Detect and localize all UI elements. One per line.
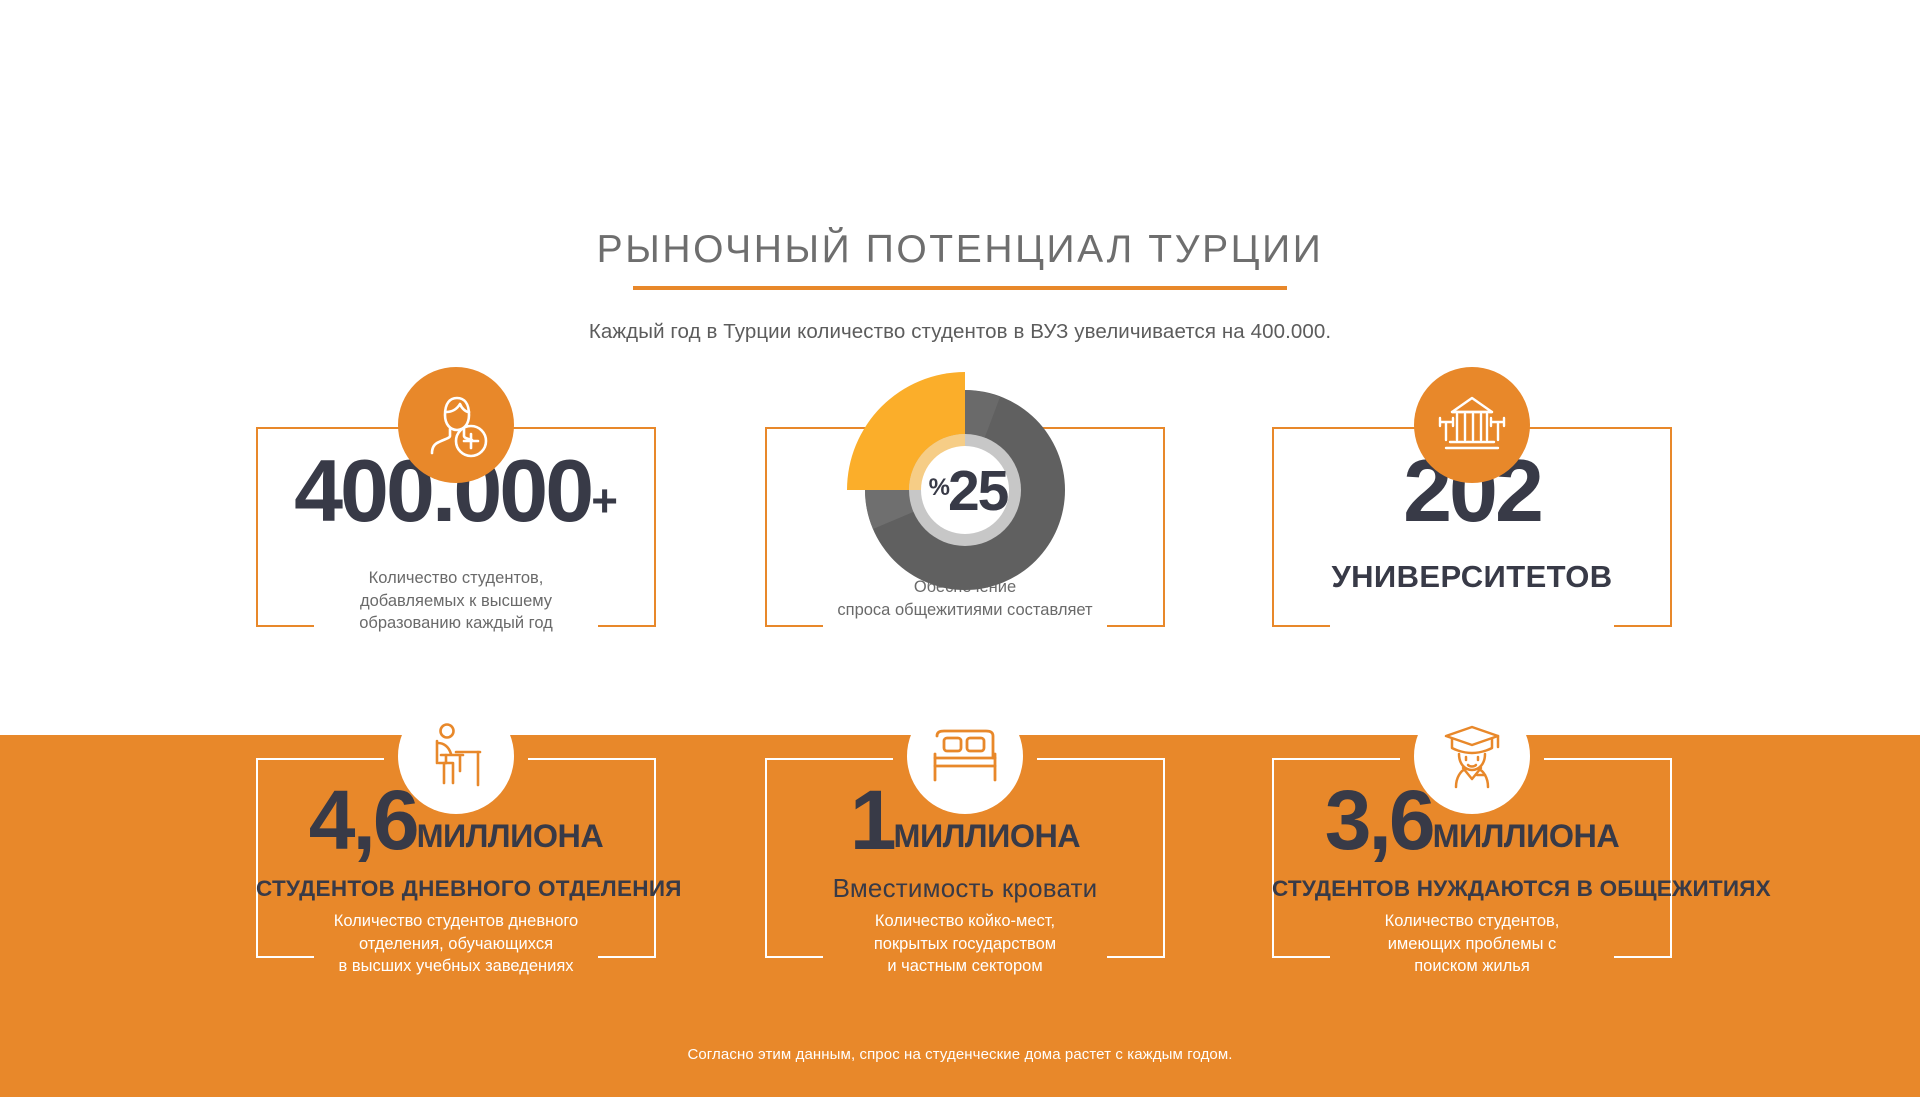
card-students-needing-dorms: 3,6МИЛЛИОНА СТУДЕНТОВ НУЖДАЮТСЯ В ОБЩЕЖИ… bbox=[1272, 758, 1672, 958]
caption-line: покрытых государством bbox=[765, 933, 1165, 956]
stat-suffix: + bbox=[591, 475, 618, 526]
caption-line: Количество студентов, bbox=[256, 567, 656, 590]
card-caption: Количество студентов, имеющих проблемы с… bbox=[1272, 910, 1672, 978]
caption-line: Количество студентов, bbox=[1272, 910, 1672, 933]
card-caption: Количество студентов, добавляемых к высш… bbox=[256, 567, 656, 635]
card-frame-bottom-gap bbox=[823, 624, 1107, 632]
caption-line: отделения, обучающихся bbox=[256, 933, 656, 956]
bed-icon bbox=[929, 728, 1001, 784]
stat-unit: МИЛЛИОНА bbox=[417, 818, 604, 854]
stat-number: 4,6 bbox=[309, 773, 417, 867]
caption-line: образованию каждый год bbox=[256, 612, 656, 635]
woman-add-icon bbox=[419, 388, 493, 462]
card-students-added: 400.000+ Количество студентов, добавляем… bbox=[256, 427, 656, 627]
university-building-icon bbox=[1434, 390, 1510, 460]
student-at-desk-icon bbox=[422, 721, 490, 791]
caption-line: в высших учебных заведениях bbox=[256, 955, 656, 978]
card-universities: 202 УНИВЕРСИТЕТОВ bbox=[1272, 427, 1672, 627]
caption-line: поиском жилья bbox=[1272, 955, 1672, 978]
card-headline-bed-capacity: Вместимость кровати bbox=[765, 873, 1165, 904]
infographic-root: РЫНОЧНЫЙ ПОТЕНЦИАЛ ТУРЦИИ Каждый год в Т… bbox=[0, 0, 1920, 1097]
caption-line: добавляемых к высшему bbox=[256, 590, 656, 613]
caption-line: Количество койко-мест, bbox=[765, 910, 1165, 933]
card-headline-fulltime-students: СТУДЕНТОВ ДНЕВНОГО ОТДЕЛЕНИЯ bbox=[256, 876, 656, 902]
graduate-student-icon-badge bbox=[1414, 698, 1530, 814]
card-dorm-supply: %25 Обеспечение спроса общежитиями соста… bbox=[765, 427, 1165, 627]
footer-note: Согласно этим данным, спрос на студенчес… bbox=[0, 1046, 1920, 1063]
card-caption: Количество койко-мест, покрытых государс… bbox=[765, 910, 1165, 978]
university-building-icon-badge bbox=[1414, 367, 1530, 483]
donut-chart-svg: %25 bbox=[842, 367, 1088, 613]
student-at-desk-icon-badge bbox=[398, 698, 514, 814]
card-bed-capacity: 1МИЛЛИОНА Вместимость кровати Количество… bbox=[765, 758, 1165, 958]
card-headline-students-needing-dorms: СТУДЕНТОВ НУЖДАЮТСЯ В ОБЩЕЖИТИЯХ bbox=[1272, 876, 1672, 902]
card-headline-universities: УНИВЕРСИТЕТОВ bbox=[1272, 559, 1672, 595]
stat-unit: МИЛЛИОНА bbox=[894, 818, 1081, 854]
title-underline-rule bbox=[633, 286, 1287, 290]
caption-line: и частным сектором bbox=[765, 955, 1165, 978]
bed-icon-badge bbox=[907, 698, 1023, 814]
stat-number: 1 bbox=[850, 773, 894, 867]
header: РЫНОЧНЫЙ ПОТЕНЦИАЛ ТУРЦИИ Каждый год в Т… bbox=[0, 228, 1920, 344]
stat-number: 3,6 bbox=[1325, 773, 1433, 867]
graduate-student-icon bbox=[1436, 723, 1508, 789]
caption-line: имеющих проблемы с bbox=[1272, 933, 1672, 956]
caption-line: Количество студентов дневного bbox=[256, 910, 656, 933]
page-subtitle: Каждый год в Турции количество студентов… bbox=[0, 320, 1920, 344]
card-frame-bottom-gap bbox=[1330, 624, 1614, 632]
card-fulltime-students: 4,6МИЛЛИОНА СТУДЕНТОВ ДНЕВНОГО ОТДЕЛЕНИЯ… bbox=[256, 758, 656, 958]
donut-chart-dorm-supply: %25 bbox=[842, 367, 1088, 613]
page-title: РЫНОЧНЫЙ ПОТЕНЦИАЛ ТУРЦИИ bbox=[0, 228, 1920, 272]
woman-add-icon-badge bbox=[398, 367, 514, 483]
stat-unit: МИЛЛИОНА bbox=[1433, 818, 1620, 854]
card-caption: Количество студентов дневного отделения,… bbox=[256, 910, 656, 978]
